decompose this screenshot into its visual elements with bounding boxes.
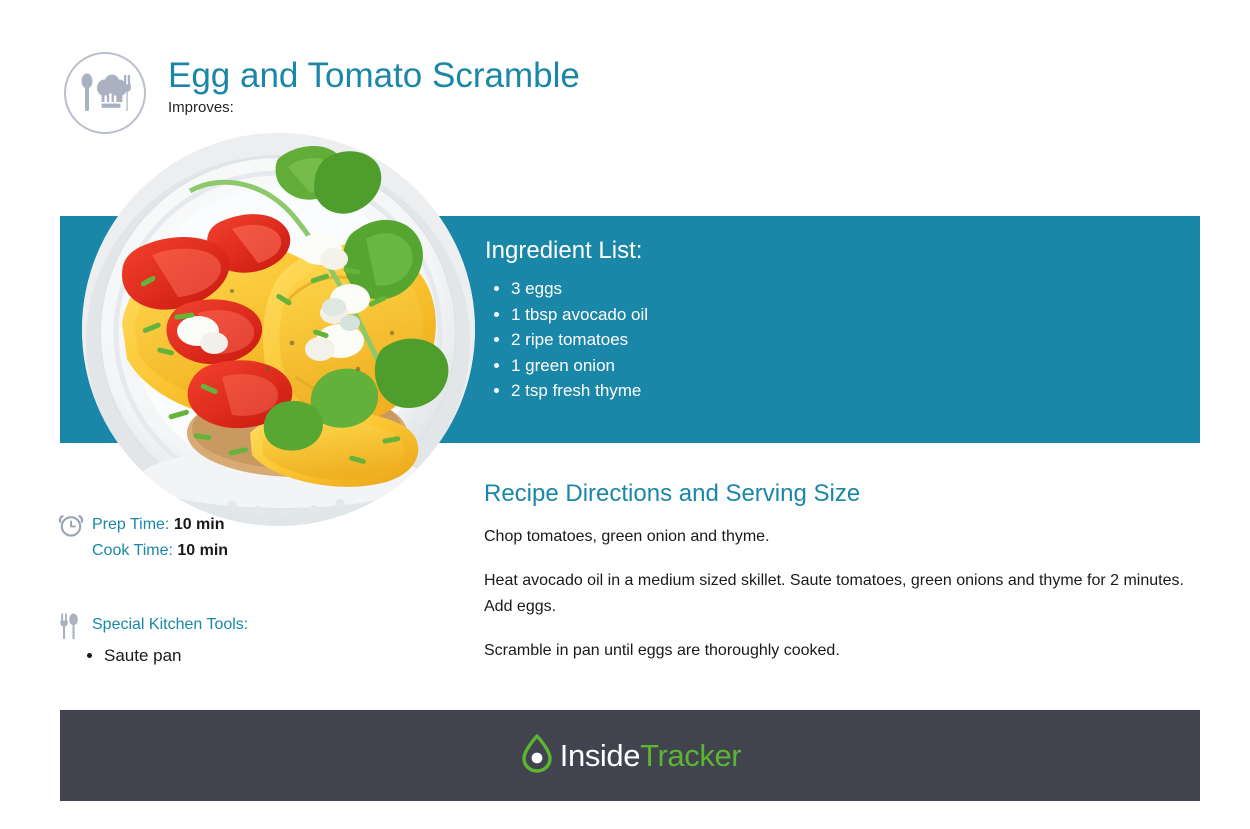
list-item: 2 ripe tomatoes: [511, 327, 1180, 353]
logo-text-secondary: Tracker: [640, 738, 741, 773]
times-group: Prep Time: 10 min Cook Time: 10 min: [58, 512, 458, 564]
direction-step: Scramble in pan until eggs are thoroughl…: [484, 638, 1184, 664]
ingredient-list-heading: Ingredient List:: [485, 236, 1180, 266]
direction-step: Heat avocado oil in a medium sized skill…: [484, 568, 1184, 620]
footer-bar: InsideTracker: [60, 710, 1200, 801]
tools-heading: Special Kitchen Tools:: [92, 612, 458, 638]
prep-time-label: Prep Time:: [92, 516, 169, 533]
improves-row: Improves:: [168, 98, 580, 118]
cook-time-row: Cook Time: 10 min: [92, 538, 458, 564]
cook-time-label: Cook Time:: [92, 542, 173, 559]
times-lines: Prep Time: 10 min Cook Time: 10 min: [92, 512, 458, 564]
ingredient-content: Ingredient List: 3 eggs 1 tbsp avocado o…: [485, 236, 1180, 404]
droplet-logo-icon: [519, 733, 555, 778]
title-block: Egg and Tomato Scramble Improves:: [168, 56, 580, 118]
cook-time-value: 10 min: [177, 542, 228, 559]
list-item: 2 tsp fresh thyme: [511, 378, 1180, 404]
improves-label: Improves:: [168, 99, 234, 116]
page-title: Egg and Tomato Scramble: [168, 56, 580, 96]
tools-lines: Special Kitchen Tools:: [92, 612, 458, 638]
list-item: 1 tbsp avocado oil: [511, 302, 1180, 328]
prep-time-value: 10 min: [174, 516, 225, 533]
fork-knife-icon: [58, 612, 88, 642]
list-item: 3 eggs: [511, 276, 1180, 302]
logo-text-primary: Inside: [560, 738, 640, 773]
recipe-directions-section: Recipe Directions and Serving Size Chop …: [484, 478, 1184, 682]
recipe-food-photo: [82, 133, 475, 526]
direction-step: Chop tomatoes, green onion and thyme.: [484, 524, 1184, 550]
directions-heading: Recipe Directions and Serving Size: [484, 478, 1184, 510]
logo-wordmark: InsideTracker: [560, 740, 741, 771]
ingredient-list: 3 eggs 1 tbsp avocado oil 2 ripe tomatoe…: [485, 276, 1180, 404]
recipe-header: Egg and Tomato Scramble Improves:: [60, 48, 1200, 148]
tools-list: Saute pan: [58, 644, 458, 668]
chef-hat-spoon-fork-icon: [64, 52, 146, 134]
insidetracker-logo: InsideTracker: [519, 733, 741, 778]
list-item: Saute pan: [104, 644, 458, 668]
recipe-meta-column: Prep Time: 10 min Cook Time: 10 min Spec…: [58, 512, 458, 668]
alarm-clock-icon: [58, 512, 88, 542]
prep-time-row: Prep Time: 10 min: [92, 512, 458, 538]
list-item: 1 green onion: [511, 353, 1180, 379]
tools-group: Special Kitchen Tools: Saute pan: [58, 612, 458, 668]
